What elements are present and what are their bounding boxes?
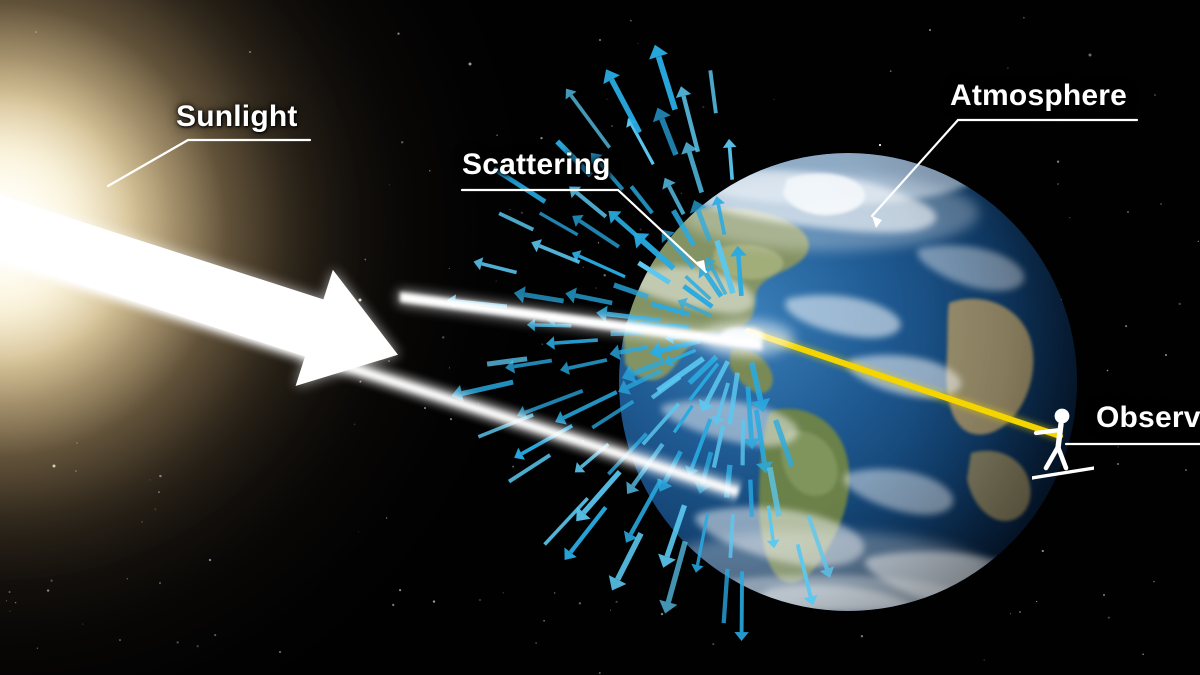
observer-torso [1058, 424, 1061, 448]
observer-arm [1036, 430, 1060, 433]
leader-line-scattering [462, 190, 706, 272]
leader-line-atmosphere [872, 120, 1137, 216]
observer-ground-line [1032, 468, 1094, 478]
label-scattering: Scattering [462, 148, 611, 182]
observer-head [1055, 409, 1070, 424]
leader-arrowhead-atmosphere [872, 216, 882, 228]
observer-leg-back [1046, 447, 1058, 468]
observer-leg-front [1058, 447, 1066, 468]
observer-figure [1032, 406, 1094, 482]
label-atmosphere: Atmosphere [950, 79, 1127, 113]
label-observer: Observ [1096, 401, 1200, 435]
leader-line-sunlight [108, 140, 310, 186]
diagram-canvas: Sunlight Scattering Atmosphere Observ [0, 0, 1200, 675]
label-sunlight: Sunlight [176, 100, 298, 134]
leader-arrowhead-scattering [696, 260, 706, 272]
